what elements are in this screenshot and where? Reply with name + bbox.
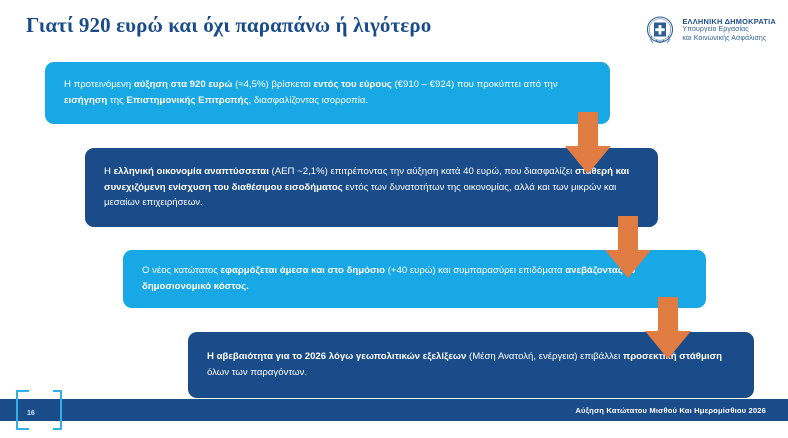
down-arrow-icon <box>565 112 611 174</box>
step-box-2-text: Η ελληνική οικονομία αναπτύσσεται (ΑΕΠ ~… <box>104 164 638 211</box>
slide-canvas: Γιατί 920 ευρώ και όχι παραπάνω ή λιγότε… <box>0 0 788 438</box>
step-sequence: Η προτεινόμενη αύξηση στα 920 ευρώ (≈4,5… <box>0 0 788 438</box>
down-arrow-icon <box>605 216 651 278</box>
footer-bar: Αύξηση Κατώτατου Μισθού Και Ημερομίσθιου… <box>0 399 788 421</box>
step-box-1: Η προτεινόμενη αύξηση στα 920 ευρώ (≈4,5… <box>45 62 610 124</box>
step-box-1-text: Η προτεινόμενη αύξηση στα 920 ευρώ (≈4,5… <box>64 77 590 108</box>
footer-title: Αύξηση Κατώτατου Μισθού Και Ημερομίσθιου… <box>575 399 766 421</box>
down-arrow-icon <box>645 297 691 359</box>
page-number: 16 <box>23 405 57 421</box>
